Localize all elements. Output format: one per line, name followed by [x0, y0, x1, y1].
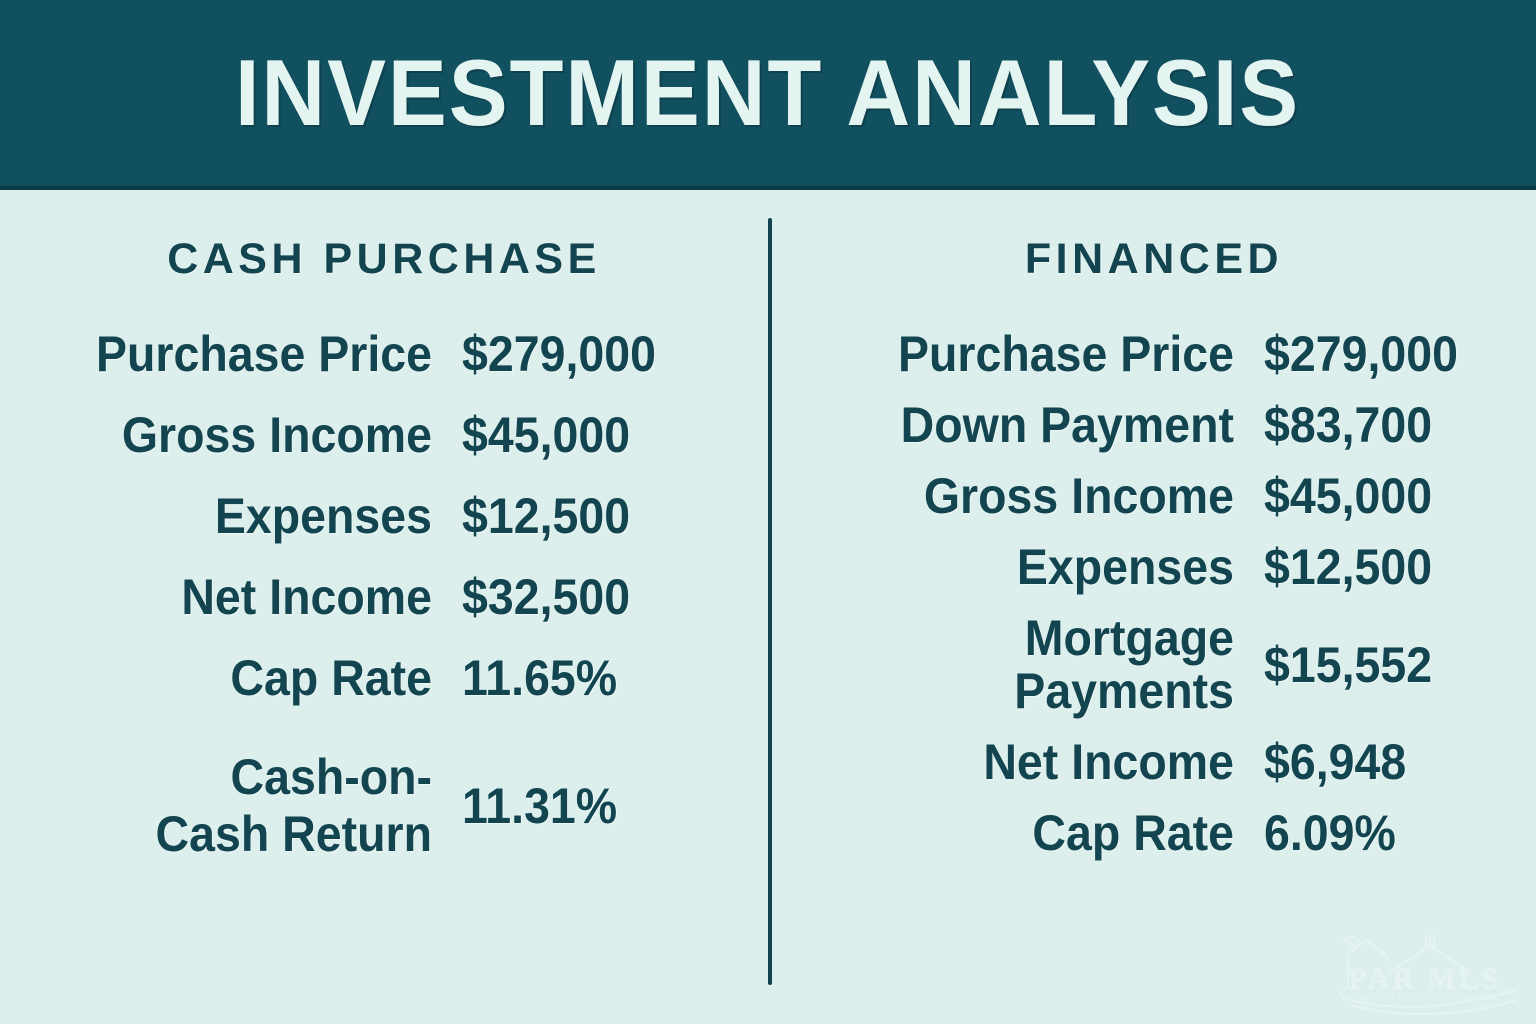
table-row: Purchase Price $279,000	[810, 328, 1488, 381]
row-value: 11.31%	[462, 780, 693, 833]
table-row: Mortgage Payments $15,552	[810, 612, 1488, 718]
row-label: Net Income	[49, 571, 432, 624]
row-value: $12,500	[462, 490, 693, 543]
table-row: Down Payment $83,700	[810, 399, 1488, 452]
row-label: Down Payment	[840, 399, 1234, 452]
row-label: Cap Rate	[49, 652, 432, 705]
row-value: $45,000	[462, 409, 693, 462]
row-value: $12,500	[1264, 541, 1472, 594]
row-label: Cap Rate	[840, 807, 1234, 860]
row-value: $15,552	[1264, 639, 1472, 692]
rows-financed: Purchase Price $279,000 Down Payment $83…	[772, 328, 1536, 878]
table-row: Net Income $32,500	[20, 571, 710, 624]
column-financed: FINANCED Purchase Price $279,000 Down Pa…	[772, 190, 1536, 1024]
row-label: Gross Income	[49, 409, 432, 462]
row-value: 6.09%	[1264, 807, 1472, 860]
table-row: Purchase Price $279,000	[20, 328, 710, 381]
row-value: $83,700	[1264, 399, 1472, 452]
table-row: Cash-on- Cash Return 11.31%	[20, 749, 710, 863]
table-row: Cap Rate 6.09%	[810, 807, 1488, 860]
row-value: $45,000	[1264, 470, 1472, 523]
table-row: Gross Income $45,000	[810, 470, 1488, 523]
row-value: $279,000	[1264, 328, 1472, 381]
row-label: Expenses	[840, 541, 1234, 594]
row-value: $279,000	[462, 328, 693, 381]
row-label: Net Income	[840, 736, 1234, 789]
row-label: Mortgage Payments	[840, 612, 1234, 718]
row-label: Purchase Price	[840, 328, 1234, 381]
column-heading-cash-purchase: CASH PURCHASE	[0, 235, 768, 284]
analysis-board: CASH PURCHASE Purchase Price $279,000 Gr…	[0, 190, 1536, 1024]
table-row: Cap Rate 11.65%	[20, 652, 710, 705]
table-row: Expenses $12,500	[810, 541, 1488, 594]
row-label: Cash-on- Cash Return	[49, 749, 432, 863]
table-row: Gross Income $45,000	[20, 409, 710, 462]
row-label: Expenses	[49, 490, 432, 543]
row-value: 11.65%	[462, 652, 693, 705]
row-label: Gross Income	[840, 470, 1234, 523]
page-header: INVESTMENT ANALYSIS	[0, 0, 1536, 190]
rows-cash-purchase: Purchase Price $279,000 Gross Income $45…	[0, 328, 768, 891]
column-heading-financed: FINANCED	[772, 235, 1536, 284]
column-cash-purchase: CASH PURCHASE Purchase Price $279,000 Gr…	[0, 190, 768, 1024]
row-label: Purchase Price	[49, 328, 432, 381]
table-row: Expenses $12,500	[20, 490, 710, 543]
page-title: INVESTMENT ANALYSIS	[235, 46, 1300, 140]
row-value: $6,948	[1264, 736, 1472, 789]
row-value: $32,500	[462, 571, 693, 624]
table-row: Net Income $6,948	[810, 736, 1488, 789]
